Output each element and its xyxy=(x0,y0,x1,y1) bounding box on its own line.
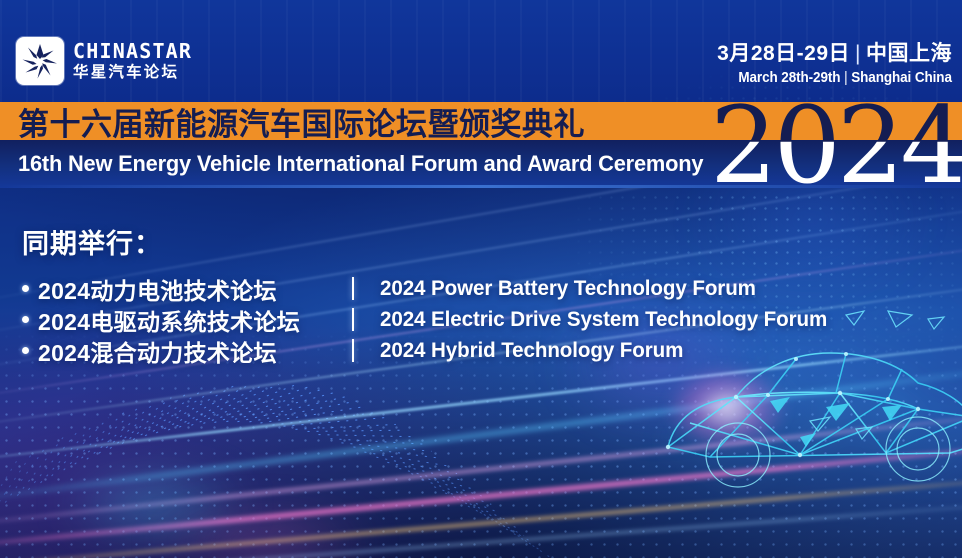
event-date-cn-line: 3月28日-29日|中国上海 xyxy=(717,42,952,66)
concurrent-heading: 同期举行： xyxy=(22,222,300,261)
brand-name-en: CHINASTAR xyxy=(73,41,192,61)
list-item: 2024动力电池技术论坛 2024 Power Battery Technolo… xyxy=(22,273,300,304)
star-burst-logo-icon xyxy=(16,37,64,85)
page-title-en: 16th New Energy Vehicle International Fo… xyxy=(18,140,703,188)
event-date-en-line: March 28th-29th|Shanghai China xyxy=(734,70,952,87)
forum-divider xyxy=(352,308,354,331)
event-date-cn: 3月28日-29日 xyxy=(717,42,850,65)
forum-label-en: 2024 Power Battery Technology Forum xyxy=(380,277,756,301)
event-location-en: Shanghai China xyxy=(851,70,952,86)
forum-divider xyxy=(352,339,354,362)
brand-logo: CHINASTAR 华星汽车论坛 xyxy=(16,37,192,85)
bullet-icon xyxy=(22,347,29,354)
bullet-icon xyxy=(22,316,29,323)
forum-label-en: 2024 Electric Drive System Technology Fo… xyxy=(380,308,827,332)
forum-label-cn: 2024混合动力技术论坛 xyxy=(38,334,277,368)
date-separator-cn: | xyxy=(850,42,866,65)
date-separator-en: | xyxy=(841,70,852,86)
event-date-location: 3月28日-29日|中国上海 March 28th-29th|Shanghai … xyxy=(717,42,952,87)
bullet-icon xyxy=(22,285,29,292)
list-item: 2024电驱动系统技术论坛 2024 Electric Drive System… xyxy=(22,304,300,335)
concurrent-forums-section: 同期举行： 2024动力电池技术论坛 2024 Power Battery Te… xyxy=(22,222,300,366)
forum-label-cn: 2024动力电池技术论坛 xyxy=(38,272,277,306)
event-location-cn: 中国上海 xyxy=(866,42,952,65)
year-display: 2024 2024 2024 xyxy=(710,93,962,199)
forum-label-cn: 2024电驱动系统技术论坛 xyxy=(38,303,300,337)
event-banner: CHINASTAR 华星汽车论坛 3月28日-29日|中国上海 March 28… xyxy=(0,0,962,558)
list-item: 2024混合动力技术论坛 2024 Hybrid Technology Foru… xyxy=(22,335,300,366)
event-date-en: March 28th-29th xyxy=(739,70,841,86)
brand-name-cn: 华星汽车论坛 xyxy=(73,65,192,81)
page-title-cn: 第十六届新能源汽车国际论坛暨颁奖典礼 xyxy=(18,102,585,140)
brand-wordmark: CHINASTAR 华星汽车论坛 xyxy=(73,41,192,81)
forum-divider xyxy=(352,277,354,300)
forum-label-en: 2024 Hybrid Technology Forum xyxy=(380,339,683,363)
